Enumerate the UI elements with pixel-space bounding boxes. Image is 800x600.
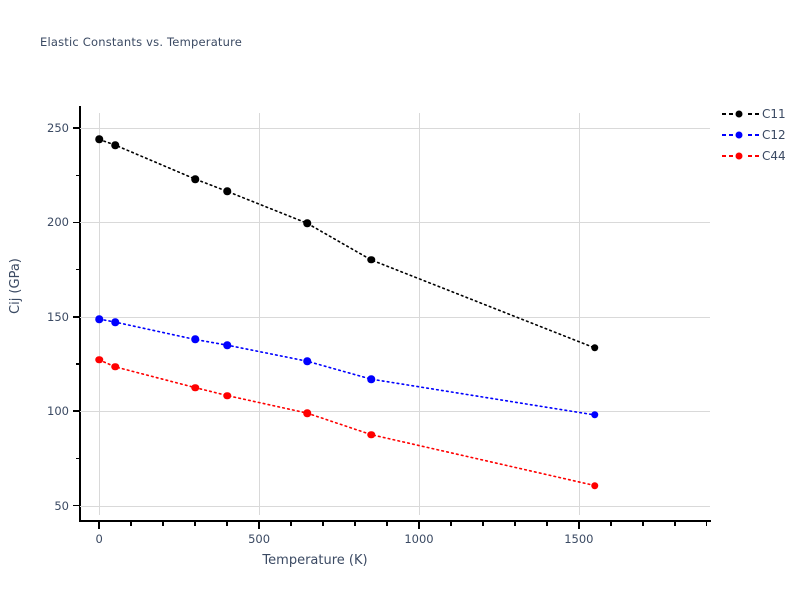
legend-dot [736, 152, 743, 159]
chart-title: Elastic Constants vs. Temperature [40, 35, 242, 49]
x-axis-label-text: Temperature (K) [262, 553, 367, 568]
data-point-c44 [223, 392, 231, 400]
legend-dash [722, 134, 726, 136]
x-tick-minor [450, 522, 451, 526]
x-tick-minor [322, 522, 323, 526]
data-point-c44 [95, 356, 103, 364]
y-tick-label: 250 [47, 121, 69, 135]
legend-dash [729, 113, 733, 115]
x-tick-label: 500 [248, 532, 270, 546]
x-tick-minor [674, 522, 675, 526]
legend-dot [736, 131, 743, 138]
y-tick-label: 100 [47, 404, 69, 418]
x-tick-minor [642, 522, 643, 526]
data-point-c44 [591, 482, 599, 490]
x-tick-minor [610, 522, 611, 526]
legend-dash [729, 134, 733, 136]
x-tick-minor [386, 522, 387, 526]
chart-legend: C11C12C44 [722, 103, 796, 166]
x-tick [418, 522, 420, 529]
x-tick-label: 1500 [564, 532, 593, 546]
x-tick-minor [290, 522, 291, 526]
legend-label: C11 [756, 107, 786, 121]
x-tick-minor [194, 522, 195, 526]
y-tick-label: 50 [54, 499, 69, 513]
legend-marker-icon-c44 [722, 150, 756, 162]
y-tick [73, 316, 80, 318]
legend-dash [748, 113, 752, 115]
x-tick-label: 1000 [404, 532, 433, 546]
legend-dash [755, 113, 759, 115]
legend-dash [729, 155, 733, 157]
y-tick [73, 127, 80, 129]
legend-dash [722, 155, 726, 157]
y-tick-label: 200 [47, 215, 69, 229]
data-point-c44 [111, 363, 119, 371]
data-point-c44 [191, 384, 199, 392]
legend-marker-icon-c11 [722, 108, 756, 120]
x-tick-minor [354, 522, 355, 526]
legend-item-c11[interactable]: C11 [722, 103, 796, 124]
legend-item-c12[interactable]: C12 [722, 124, 796, 145]
y-tick [73, 410, 80, 412]
legend-marker-icon-c12 [722, 129, 756, 141]
x-tick-minor [162, 522, 163, 526]
legend-label: C44 [756, 149, 786, 163]
y-axis-label: Cij (GPa) [8, 258, 23, 314]
legend-dash [748, 134, 752, 136]
x-tick [98, 522, 100, 529]
legend-dash [755, 155, 759, 157]
x-tick-minor [546, 522, 547, 526]
data-point-c44 [303, 409, 311, 417]
x-tick-minor [514, 522, 515, 526]
x-tick [258, 522, 260, 529]
x-axis-label: Temperature (K) [0, 553, 790, 568]
data-point-c44 [367, 431, 375, 439]
legend-dash [722, 113, 726, 115]
series-line-c44 [80, 113, 710, 515]
legend-dash [748, 155, 752, 157]
y-tick [73, 505, 80, 507]
chart-figure: Elastic Constants vs. Temperature 501001… [0, 0, 800, 600]
x-axis-spine [79, 520, 711, 522]
y-tick-label: 150 [47, 310, 69, 324]
legend-label: C12 [756, 128, 786, 142]
plot-area: 50100150200250050010001500 [80, 113, 710, 515]
x-tick-minor [130, 522, 131, 526]
legend-item-c44[interactable]: C44 [722, 145, 796, 166]
x-tick-minor [706, 522, 707, 526]
x-tick-minor [226, 522, 227, 526]
legend-dot [736, 110, 743, 117]
y-tick [73, 222, 80, 224]
x-tick-label: 0 [96, 532, 103, 546]
legend-dash [755, 134, 759, 136]
x-tick [578, 522, 580, 529]
x-tick-minor [482, 522, 483, 526]
